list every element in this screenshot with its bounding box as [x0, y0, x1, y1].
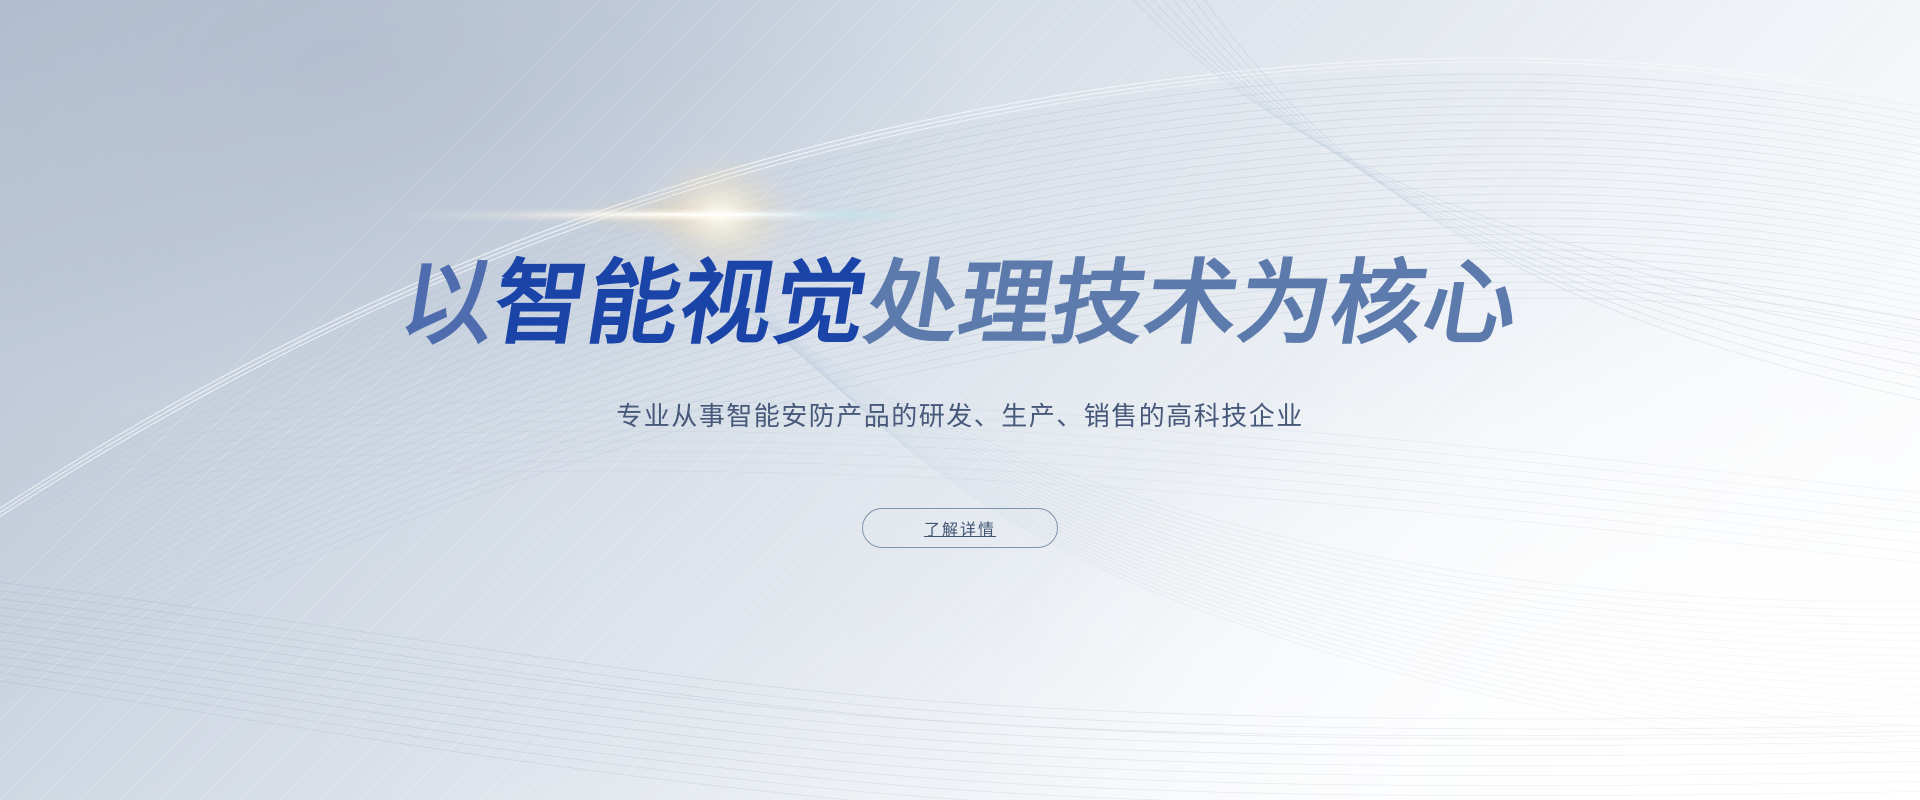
learn-more-button[interactable]: 了解详情	[862, 508, 1058, 548]
headline-segment-2: 智能视觉	[488, 258, 875, 350]
headline-segment-1: 以	[395, 258, 503, 350]
hero-content: 以智能视觉处理技术为核心 专业从事智能安防产品的研发、生产、销售的高科技企业 了…	[0, 0, 1920, 800]
hero-banner: 以智能视觉处理技术为核心 专业从事智能安防产品的研发、生产、销售的高科技企业 了…	[0, 0, 1920, 800]
page-title: 以智能视觉处理技术为核心	[402, 258, 1518, 350]
page-subtitle: 专业从事智能安防产品的研发、生产、销售的高科技企业	[616, 400, 1304, 434]
headline-segment-3: 处理技术为核心	[860, 258, 1526, 350]
